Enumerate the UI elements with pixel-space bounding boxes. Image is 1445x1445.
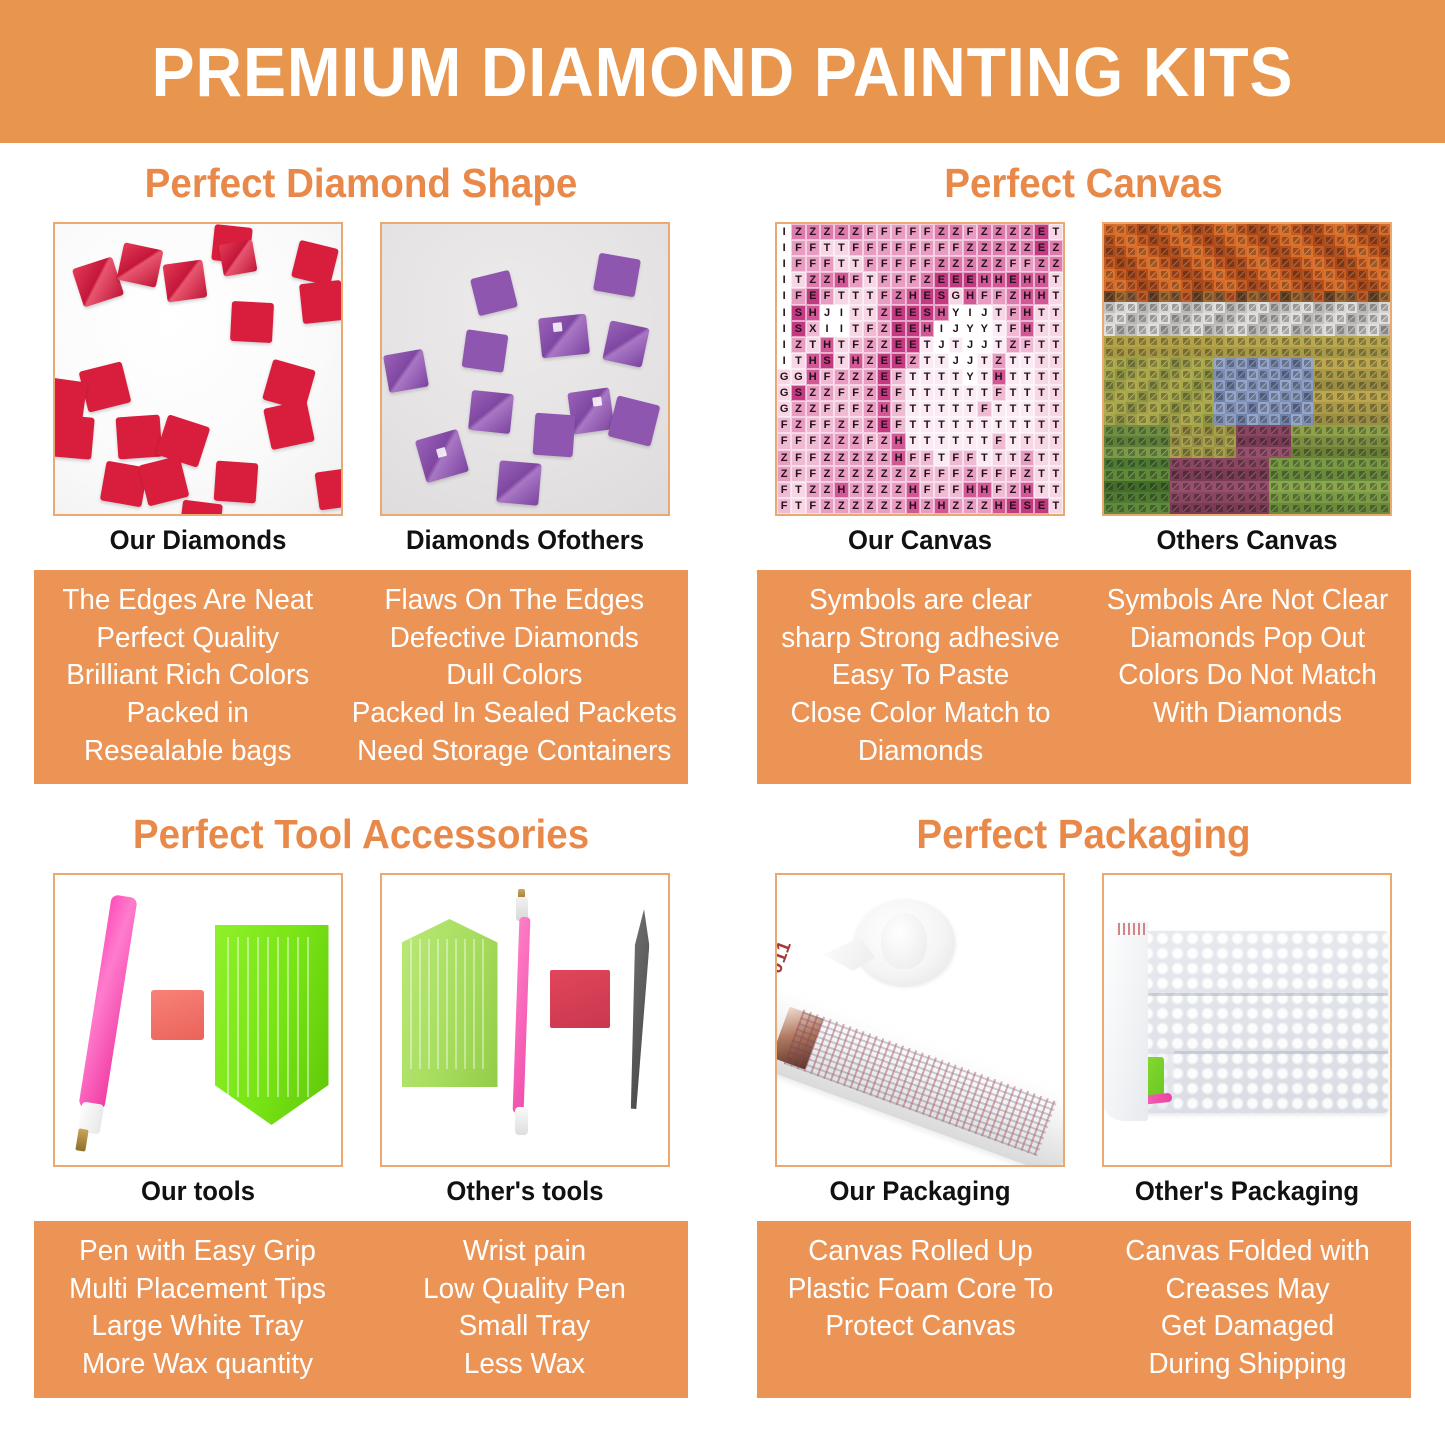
canvas-muddy-cell (1258, 313, 1269, 324)
canvas-muddy-cell (1225, 313, 1236, 324)
canvas-muddy-cell (1170, 324, 1181, 335)
canvas-muddy-cell (1170, 503, 1181, 514)
canvas-muddy-cell (1357, 425, 1368, 436)
canvas-muddy-cell (1324, 414, 1335, 425)
canvas-symbol-cell: T (920, 417, 934, 433)
canvas-muddy-cell (1192, 302, 1203, 313)
canvas-symbol-cell: H (834, 482, 848, 498)
canvas-muddy-cell (1269, 257, 1280, 268)
canvas-muddy-cell (1203, 492, 1214, 503)
canvas-symbol-cell: F (891, 256, 905, 272)
canvas-muddy-cell (1115, 425, 1126, 436)
canvas-symbol-cell: H (1034, 288, 1048, 304)
canvas-muddy-cell (1302, 447, 1313, 458)
canvas-muddy-cell (1203, 257, 1214, 268)
canvas-muddy-cell (1181, 269, 1192, 280)
canvas-muddy-cell (1115, 291, 1126, 302)
canvas-muddy-cell (1225, 302, 1236, 313)
canvas-muddy-cell (1247, 391, 1258, 402)
canvas-symbol-cell: Z (977, 224, 991, 240)
canvas-muddy-cell (1346, 347, 1357, 358)
canvas-symbol-cell: Z (949, 224, 963, 240)
canvas-symbol-cell: Z (1049, 240, 1063, 256)
canvas-muddy-cell (1148, 369, 1159, 380)
canvas-muddy-cell (1291, 391, 1302, 402)
compare-line: Resealable bags (44, 733, 331, 771)
canvas-muddy-cell (1368, 492, 1379, 503)
canvas-muddy-cell (1192, 280, 1203, 291)
canvas-muddy-cell (1126, 391, 1137, 402)
canvas-muddy-cell (1126, 503, 1137, 514)
canvas-muddy-cell (1313, 291, 1324, 302)
canvas-muddy-cell (1236, 313, 1247, 324)
canvas-symbol-cell: T (834, 256, 848, 272)
compare-line: Multi Placement Tips (44, 1271, 350, 1309)
canvas-muddy-cell (1115, 458, 1126, 469)
canvas-muddy-cell (1192, 336, 1203, 347)
canvas-muddy-cell (1181, 380, 1192, 391)
canvas-muddy-cell (1291, 313, 1302, 324)
canvas-muddy-cell (1192, 391, 1203, 402)
canvas-muddy-cell (1269, 436, 1280, 447)
canvas-muddy-cell (1280, 224, 1291, 235)
canvas-symbol-cell: T (1049, 385, 1063, 401)
canvas-symbol-cell: Z (834, 417, 848, 433)
canvas-muddy-cell (1258, 481, 1269, 492)
canvas-muddy-cell (1258, 425, 1269, 436)
canvas-muddy-cell (1181, 246, 1192, 257)
canvas-symbol-cell: Z (992, 240, 1006, 256)
canvas-muddy-cell (1313, 336, 1324, 347)
canvas-muddy-cell (1192, 224, 1203, 235)
section-diamond-shape: Perfect Diamond Shape (0, 143, 722, 794)
compare-line: Close Color Match to (767, 695, 1073, 733)
canvas-muddy-cell (1247, 425, 1258, 436)
canvas-muddy-cell (1148, 380, 1159, 391)
canvas-symbol-cell: F (891, 401, 905, 417)
canvas-muddy-cell (1236, 269, 1247, 280)
canvas-muddy-cell (1225, 492, 1236, 503)
canvas-muddy-cell (1148, 269, 1159, 280)
canvas-muddy-cell (1346, 369, 1357, 380)
canvas-symbol-cell: J (977, 305, 991, 321)
canvas-muddy-cell (1126, 414, 1137, 425)
canvas-muddy-cell (1379, 269, 1390, 280)
compare-line: Canvas Rolled Up (767, 1233, 1073, 1271)
canvas-muddy-cell (1357, 481, 1368, 492)
canvas-symbol-cell: T (1034, 466, 1048, 482)
canvas-symbol-cell: T (806, 337, 820, 353)
canvas-muddy-cell (1258, 414, 1269, 425)
canvas-muddy-cell (1181, 324, 1192, 335)
canvas-symbol-cell: Z (820, 224, 834, 240)
canvas-muddy-cell (1335, 380, 1346, 391)
canvas-muddy-cell (1115, 313, 1126, 324)
canvas-muddy-cell (1159, 347, 1170, 358)
canvas-muddy-cell (1137, 336, 1148, 347)
canvas-symbol-cell: Z (992, 353, 1006, 369)
canvas-symbol-cell: I (777, 321, 791, 337)
canvas-muddy-cell (1291, 336, 1302, 347)
canvas-muddy-cell (1126, 402, 1137, 413)
canvas-symbol-cell: F (906, 272, 920, 288)
canvas-muddy-cell (1181, 291, 1192, 302)
canvas-symbol-cell: T (934, 417, 948, 433)
canvas-muddy-cell (1357, 224, 1368, 235)
canvas-symbol-cell: F (920, 240, 934, 256)
canvas-symbol-cell: F (806, 466, 820, 482)
canvas-symbol-cell: T (1020, 417, 1034, 433)
canvas-muddy-cell (1280, 280, 1291, 291)
canvas-muddy-cell (1137, 436, 1148, 447)
canvas-symbol-cell: F (877, 224, 891, 240)
canvas-muddy-cell (1280, 336, 1291, 347)
canvas-muddy-cell (1203, 291, 1214, 302)
canvas-symbol-cell: Z (949, 256, 963, 272)
canvas-muddy-cell (1214, 269, 1225, 280)
canvas-symbol-cell: E (1034, 498, 1048, 514)
canvas-muddy-cell (1137, 481, 1148, 492)
canvas-muddy-cell (1104, 224, 1115, 235)
canvas-muddy-cell (1159, 336, 1170, 347)
compare-line: Symbols Are Not Clear (1094, 582, 1400, 620)
canvas-muddy-cell (1313, 447, 1324, 458)
canvas-muddy-cell (1148, 436, 1159, 447)
canvas-symbol-cell: F (977, 466, 991, 482)
canvas-symbol-cell: E (934, 272, 948, 288)
canvas-symbol-cell: Z (1006, 482, 1020, 498)
canvas-muddy-cell (1368, 246, 1379, 257)
canvas-muddy-cell (1368, 280, 1379, 291)
canvas-muddy-cell (1258, 469, 1269, 480)
compare-line: Small Tray (371, 1308, 677, 1346)
canvas-symbol-cell: H (963, 482, 977, 498)
canvas-muddy-cell (1379, 380, 1390, 391)
compare-line: Plastic Foam Core To (767, 1271, 1073, 1309)
canvas-muddy-cell (1302, 235, 1313, 246)
canvas-muddy-cell (1203, 447, 1214, 458)
canvas-muddy-cell (1335, 436, 1346, 447)
canvas-muddy-cell (1269, 391, 1280, 402)
canvas-muddy-cell (1104, 436, 1115, 447)
canvas-symbol-cell: T (1034, 385, 1048, 401)
canvas-symbol-cell: T (906, 385, 920, 401)
canvas-muddy-cell (1214, 414, 1225, 425)
canvas-symbol-cell: Z (806, 401, 820, 417)
compare-line: Creases May (1094, 1271, 1400, 1309)
canvas-symbol-cell: F (791, 256, 805, 272)
canvas-symbol-cell: F (1020, 337, 1034, 353)
canvas-muddy-cell (1247, 436, 1258, 447)
canvas-symbol-cell: Z (863, 401, 877, 417)
canvas-muddy-cell (1291, 246, 1302, 257)
canvas-muddy-cell (1346, 291, 1357, 302)
canvas-symbol-cell: T (1020, 369, 1034, 385)
canvas-muddy-cell (1335, 347, 1346, 358)
canvas-symbol-cell: T (934, 369, 948, 385)
canvas-muddy-cell (1192, 414, 1203, 425)
canvas-symbol-cell: T (920, 433, 934, 449)
canvas-muddy-cell (1291, 257, 1302, 268)
canvas-muddy-cell (1181, 447, 1192, 458)
caption-other-canvas: Others Canvas (1109, 525, 1385, 556)
canvas-muddy-cell (1324, 347, 1335, 358)
canvas-symbol-cell: Y (977, 321, 991, 337)
canvas-symbol-cell: J (963, 353, 977, 369)
canvas-muddy-cell (1126, 235, 1137, 246)
canvas-muddy-cell (1203, 380, 1214, 391)
canvas-muddy-cell (1170, 369, 1181, 380)
canvas-symbol-cell: F (849, 240, 863, 256)
canvas-symbol-cell: T (863, 305, 877, 321)
canvas-symbol-cell: F (863, 240, 877, 256)
canvas-muddy-cell (1236, 402, 1247, 413)
canvas-muddy-cell (1357, 458, 1368, 469)
canvas-muddy-cell (1236, 257, 1247, 268)
canvas-symbol-cell: Z (806, 385, 820, 401)
canvas-symbol-cell: Z (1006, 288, 1020, 304)
canvas-symbol-cell: T (849, 256, 863, 272)
canvas-muddy-cell (1247, 481, 1258, 492)
canvas-symbol-cell: F (920, 256, 934, 272)
canvas-symbol-cell: E (1006, 272, 1020, 288)
canvas-symbol-cell: E (949, 272, 963, 288)
canvas-muddy-cell (1302, 280, 1313, 291)
canvas-muddy-cell (1258, 280, 1269, 291)
canvas-muddy-cell (1159, 436, 1170, 447)
canvas-muddy-cell (1115, 224, 1126, 235)
canvas-muddy-cell (1203, 469, 1214, 480)
canvas-symbol-cell: I (777, 337, 791, 353)
canvas-symbol-cell: Z (834, 224, 848, 240)
canvas-muddy-cell (1335, 369, 1346, 380)
canvas-muddy-cell (1247, 246, 1258, 257)
compare-line: Colors Do Not Match (1094, 657, 1400, 695)
canvas-muddy-cell (1247, 347, 1258, 358)
canvas-muddy-cell (1313, 369, 1324, 380)
canvas-symbol-cell: T (791, 482, 805, 498)
canvas-symbol-cell: E (1034, 240, 1048, 256)
canvas-muddy-cell (1269, 469, 1280, 480)
canvas-symbol-cell: Z (1006, 224, 1020, 240)
canvas-muddy-cell (1225, 391, 1236, 402)
canvas-symbol-cell: Z (963, 466, 977, 482)
compare-ours-diamond-shape: The Edges Are NeatPerfect QualityBrillia… (40, 582, 335, 770)
canvas-muddy-cell (1258, 235, 1269, 246)
canvas-muddy-cell (1115, 469, 1126, 480)
canvas-muddy-cell (1115, 380, 1126, 391)
canvas-symbol-cell: Z (949, 498, 963, 514)
canvas-muddy-cell (1291, 469, 1302, 480)
canvas-muddy-cell (1357, 503, 1368, 514)
canvas-muddy-cell (1192, 469, 1203, 480)
canvas-symbol-cell: F (820, 369, 834, 385)
canvas-muddy-cell (1313, 347, 1324, 358)
canvas-muddy-cell (1159, 492, 1170, 503)
canvas-symbol-cell: T (920, 337, 934, 353)
canvas-muddy-cell (1379, 469, 1390, 480)
canvas-symbol-cell: J (949, 321, 963, 337)
compare-line: Diamonds (767, 733, 1073, 771)
canvas-muddy-cell (1137, 447, 1148, 458)
canvas-symbol-cell: F (863, 256, 877, 272)
canvas-symbol-cell: F (934, 482, 948, 498)
canvas-symbol-cell: E (906, 337, 920, 353)
canvas-muddy-cell (1181, 414, 1192, 425)
canvas-muddy-cell (1302, 257, 1313, 268)
canvas-symbol-cell: T (1049, 224, 1063, 240)
canvas-muddy-cell (1203, 481, 1214, 492)
canvas-muddy-cell (1203, 347, 1214, 358)
canvas-muddy-cell (1258, 347, 1269, 358)
canvas-muddy-cell (1247, 313, 1258, 324)
canvas-muddy-cell (1236, 380, 1247, 391)
canvas-muddy-cell (1291, 224, 1302, 235)
canvas-muddy-cell (1170, 402, 1181, 413)
canvas-symbol-cell: T (977, 369, 991, 385)
canvas-muddy-cell (1291, 347, 1302, 358)
canvas-muddy-cell (1170, 380, 1181, 391)
canvas-symbol-cell: T (1049, 288, 1063, 304)
canvas-muddy-cell (1126, 380, 1137, 391)
canvas-muddy-cell (1236, 503, 1247, 514)
canvas-symbol-cell: F (906, 224, 920, 240)
canvas-muddy-cell (1214, 336, 1225, 347)
canvas-muddy-cell (1104, 503, 1115, 514)
canvas-muddy-cell (1225, 436, 1236, 447)
canvas-muddy-cell (1247, 458, 1258, 469)
canvas-muddy-cell (1137, 414, 1148, 425)
canvas-symbol-cell: F (806, 417, 820, 433)
canvas-symbol-cell: F (806, 256, 820, 272)
canvas-symbol-cell: J (977, 337, 991, 353)
canvas-muddy-cell (1104, 425, 1115, 436)
canvas-muddy-cell (1313, 324, 1324, 335)
canvas-symbol-cell: F (791, 433, 805, 449)
canvas-symbol-cell: F (949, 450, 963, 466)
canvas-symbol-cell: F (849, 272, 863, 288)
canvas-muddy-cell (1313, 380, 1324, 391)
canvas-symbol-cell: H (806, 369, 820, 385)
canvas-muddy-cell (1214, 492, 1225, 503)
canvas-symbol-cell: T (1049, 498, 1063, 514)
canvas-muddy-cell (1104, 302, 1115, 313)
compare-line: The Edges Are Neat (44, 582, 331, 620)
canvas-muddy-cell (1148, 257, 1159, 268)
canvas-symbol-cell: H (820, 337, 834, 353)
canvas-muddy-cell (1368, 347, 1379, 358)
canvas-muddy-cell (1159, 402, 1170, 413)
canvas-muddy-cell (1137, 291, 1148, 302)
canvas-symbol-cell: Z (820, 466, 834, 482)
canvas-symbol-cell: T (834, 288, 848, 304)
canvas-muddy-cell (1313, 492, 1324, 503)
canvas-muddy-cell (1203, 324, 1214, 335)
canvas-symbol-cell: T (977, 433, 991, 449)
canvas-symbol-cell: S (791, 305, 805, 321)
canvas-muddy-cell (1159, 414, 1170, 425)
canvas-symbol-cell: Z (1020, 466, 1034, 482)
canvas-symbol-cell: T (1049, 353, 1063, 369)
section-tools: Perfect Tool Accessories (0, 794, 722, 1445)
canvas-muddy-cell (1104, 447, 1115, 458)
canvas-muddy-cell (1225, 469, 1236, 480)
canvas-muddy-cell (1170, 347, 1181, 358)
canvas-symbol-cell: Z (877, 450, 891, 466)
canvas-muddy-cell (1203, 369, 1214, 380)
canvas-muddy-cell (1335, 481, 1346, 492)
canvas-muddy-cell (1126, 481, 1137, 492)
canvas-muddy-cell (1236, 447, 1247, 458)
canvas-muddy-cell (1236, 347, 1247, 358)
canvas-muddy-cell (1159, 291, 1170, 302)
canvas-muddy-cell (1280, 436, 1291, 447)
canvas-symbol-cell: T (1034, 321, 1048, 337)
canvas-muddy-cell (1368, 324, 1379, 335)
canvas-muddy-cell (1137, 503, 1148, 514)
canvas-symbol-cell: Z (849, 450, 863, 466)
canvas-symbol-cell: T (1020, 353, 1034, 369)
canvas-muddy-cell (1148, 425, 1159, 436)
canvas-muddy-cell (1269, 224, 1280, 235)
canvas-muddy-cell (1181, 313, 1192, 324)
canvas-symbol-cell: T (1049, 272, 1063, 288)
canvas-muddy-cell (1324, 503, 1335, 514)
canvas-symbol-cell: S (934, 288, 948, 304)
canvas-muddy-cell (1214, 447, 1225, 458)
canvas-muddy-cell (1302, 369, 1313, 380)
canvas-muddy-cell (1313, 391, 1324, 402)
canvas-muddy-cell (1269, 481, 1280, 492)
canvas-muddy-cell (1203, 336, 1214, 347)
canvas-muddy-cell (1357, 280, 1368, 291)
canvas-muddy-cell (1357, 302, 1368, 313)
canvas-muddy-cell (1159, 469, 1170, 480)
canvas-muddy-cell (1148, 481, 1159, 492)
canvas-muddy-cell (1368, 235, 1379, 246)
canvas-symbol-cell: Z (977, 498, 991, 514)
canvas-muddy-cell (1324, 380, 1335, 391)
canvas-symbol-cell: H (977, 482, 991, 498)
canvas-muddy-cell (1269, 447, 1280, 458)
comparison-grid: Perfect Diamond Shape (0, 143, 1445, 1445)
canvas-muddy-cell (1313, 458, 1324, 469)
canvas-symbol-cell: F (949, 466, 963, 482)
symbol-grid: IZZZZZFFFFFZZFZZZZETIFFTTFFFFFFFFZZZZZEZ… (777, 224, 1063, 514)
canvas-muddy-cell (1291, 447, 1302, 458)
canvas-muddy-cell (1379, 425, 1390, 436)
canvas-muddy-cell (1192, 447, 1203, 458)
canvas-muddy-cell (1192, 347, 1203, 358)
canvas-muddy-cell (1346, 402, 1357, 413)
canvas-muddy-cell (1280, 469, 1291, 480)
canvas-symbol-cell: T (963, 401, 977, 417)
our-tools-photo (53, 873, 343, 1167)
canvas-muddy-cell (1170, 246, 1181, 257)
canvas-muddy-cell (1269, 503, 1280, 514)
canvas-muddy-cell (1159, 458, 1170, 469)
canvas-muddy-cell (1302, 269, 1313, 280)
canvas-muddy-cell (1192, 503, 1203, 514)
canvas-muddy-cell (1148, 391, 1159, 402)
canvas-muddy-cell (1225, 481, 1236, 492)
canvas-muddy-cell (1137, 469, 1148, 480)
canvas-symbol-cell: Z (849, 466, 863, 482)
canvas-muddy-cell (1170, 302, 1181, 313)
compare-line: Perfect Quality (44, 620, 331, 658)
canvas-symbol-cell: F (949, 240, 963, 256)
canvas-muddy-cell (1236, 492, 1247, 503)
